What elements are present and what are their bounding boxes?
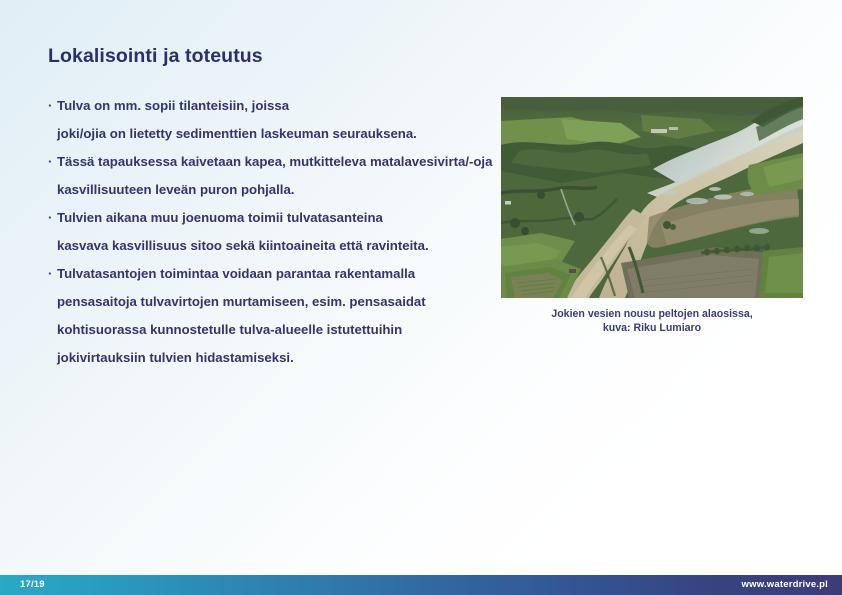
- footer-website-link[interactable]: www.waterdrive.pl: [742, 575, 842, 595]
- presentation-slide: Lokalisointi ja toteutus · Tulva on mm. …: [0, 0, 842, 595]
- bullet-text: Tässä tapauksessa kaivetaan kapea, mutki…: [57, 154, 492, 169]
- list-item: · Tulva on mm. sopii tilanteisiin, joiss…: [48, 92, 493, 148]
- photo-image: [501, 97, 803, 298]
- page-title: Lokalisointi ja toteutus: [48, 45, 263, 68]
- photo-figure: [501, 97, 803, 298]
- bullet-continuation-line: kasvava kasvillisuus sitoo sekä kiintoai…: [48, 232, 493, 260]
- bullet-text: Tulvatasantojen toimintaa voidaan parant…: [57, 266, 415, 281]
- bullet-line: · Tulvien aikana muu joenuoma toimii tul…: [48, 204, 493, 232]
- bullet-text: pensasaitoja tulvavirtojen murtamiseen, …: [57, 294, 426, 309]
- list-item: · Tulvatasantojen toimintaa voidaan para…: [48, 260, 493, 372]
- list-item: · Tulvien aikana muu joenuoma toimii tul…: [48, 204, 493, 260]
- bullet-text: kasvillisuuteen leveän puron pohjalla.: [57, 182, 294, 197]
- bullet-text: jokivirtauksiin tulvien hidastamiseksi.: [57, 350, 294, 365]
- bullet-continuation-line: kohtisuorassa kunnostetulle tulva-alueel…: [48, 316, 493, 344]
- photo-caption: Jokien vesien nousu peltojen alaosissa, …: [501, 307, 803, 335]
- bullet-continuation-line: jokivirtauksiin tulvien hidastamiseksi.: [48, 344, 493, 372]
- bullet-line: · Tulvatasantojen toimintaa voidaan para…: [48, 260, 493, 288]
- caption-line-2: kuva: Riku Lumiaro: [501, 321, 803, 335]
- bullet-text: Tulva on mm. sopii tilanteisiin, joissa: [57, 98, 289, 113]
- bullet-dot-icon: ·: [48, 204, 52, 232]
- list-item: · Tässä tapauksessa kaivetaan kapea, mut…: [48, 148, 493, 204]
- bullet-text: joki/ojia on lietetty sedimenttien laske…: [57, 126, 417, 141]
- bullet-continuation-line: pensasaitoja tulvavirtojen murtamiseen, …: [48, 288, 493, 316]
- bullet-continuation-line: joki/ojia on lietetty sedimenttien laske…: [48, 120, 493, 148]
- slide-page-number: 17/19: [0, 575, 45, 595]
- caption-line-1: Jokien vesien nousu peltojen alaosissa,: [501, 307, 803, 321]
- bullet-continuation-line: kasvillisuuteen leveän puron pohjalla.: [48, 176, 493, 204]
- footer-bar: [0, 575, 842, 595]
- bullet-line: · Tulva on mm. sopii tilanteisiin, joiss…: [48, 92, 493, 120]
- bullet-dot-icon: ·: [48, 92, 52, 120]
- bullet-dot-icon: ·: [48, 148, 52, 176]
- aerial-photo-flooded-river-valley: [501, 97, 803, 298]
- bullet-line: · Tässä tapauksessa kaivetaan kapea, mut…: [48, 148, 493, 176]
- bullet-list: · Tulva on mm. sopii tilanteisiin, joiss…: [48, 92, 493, 372]
- bullet-dot-icon: ·: [48, 260, 52, 288]
- bullet-text: kohtisuorassa kunnostetulle tulva-alueel…: [57, 322, 402, 337]
- bullet-text: Tulvien aikana muu joenuoma toimii tulva…: [57, 210, 383, 225]
- bullet-text: kasvava kasvillisuus sitoo sekä kiintoai…: [57, 238, 429, 253]
